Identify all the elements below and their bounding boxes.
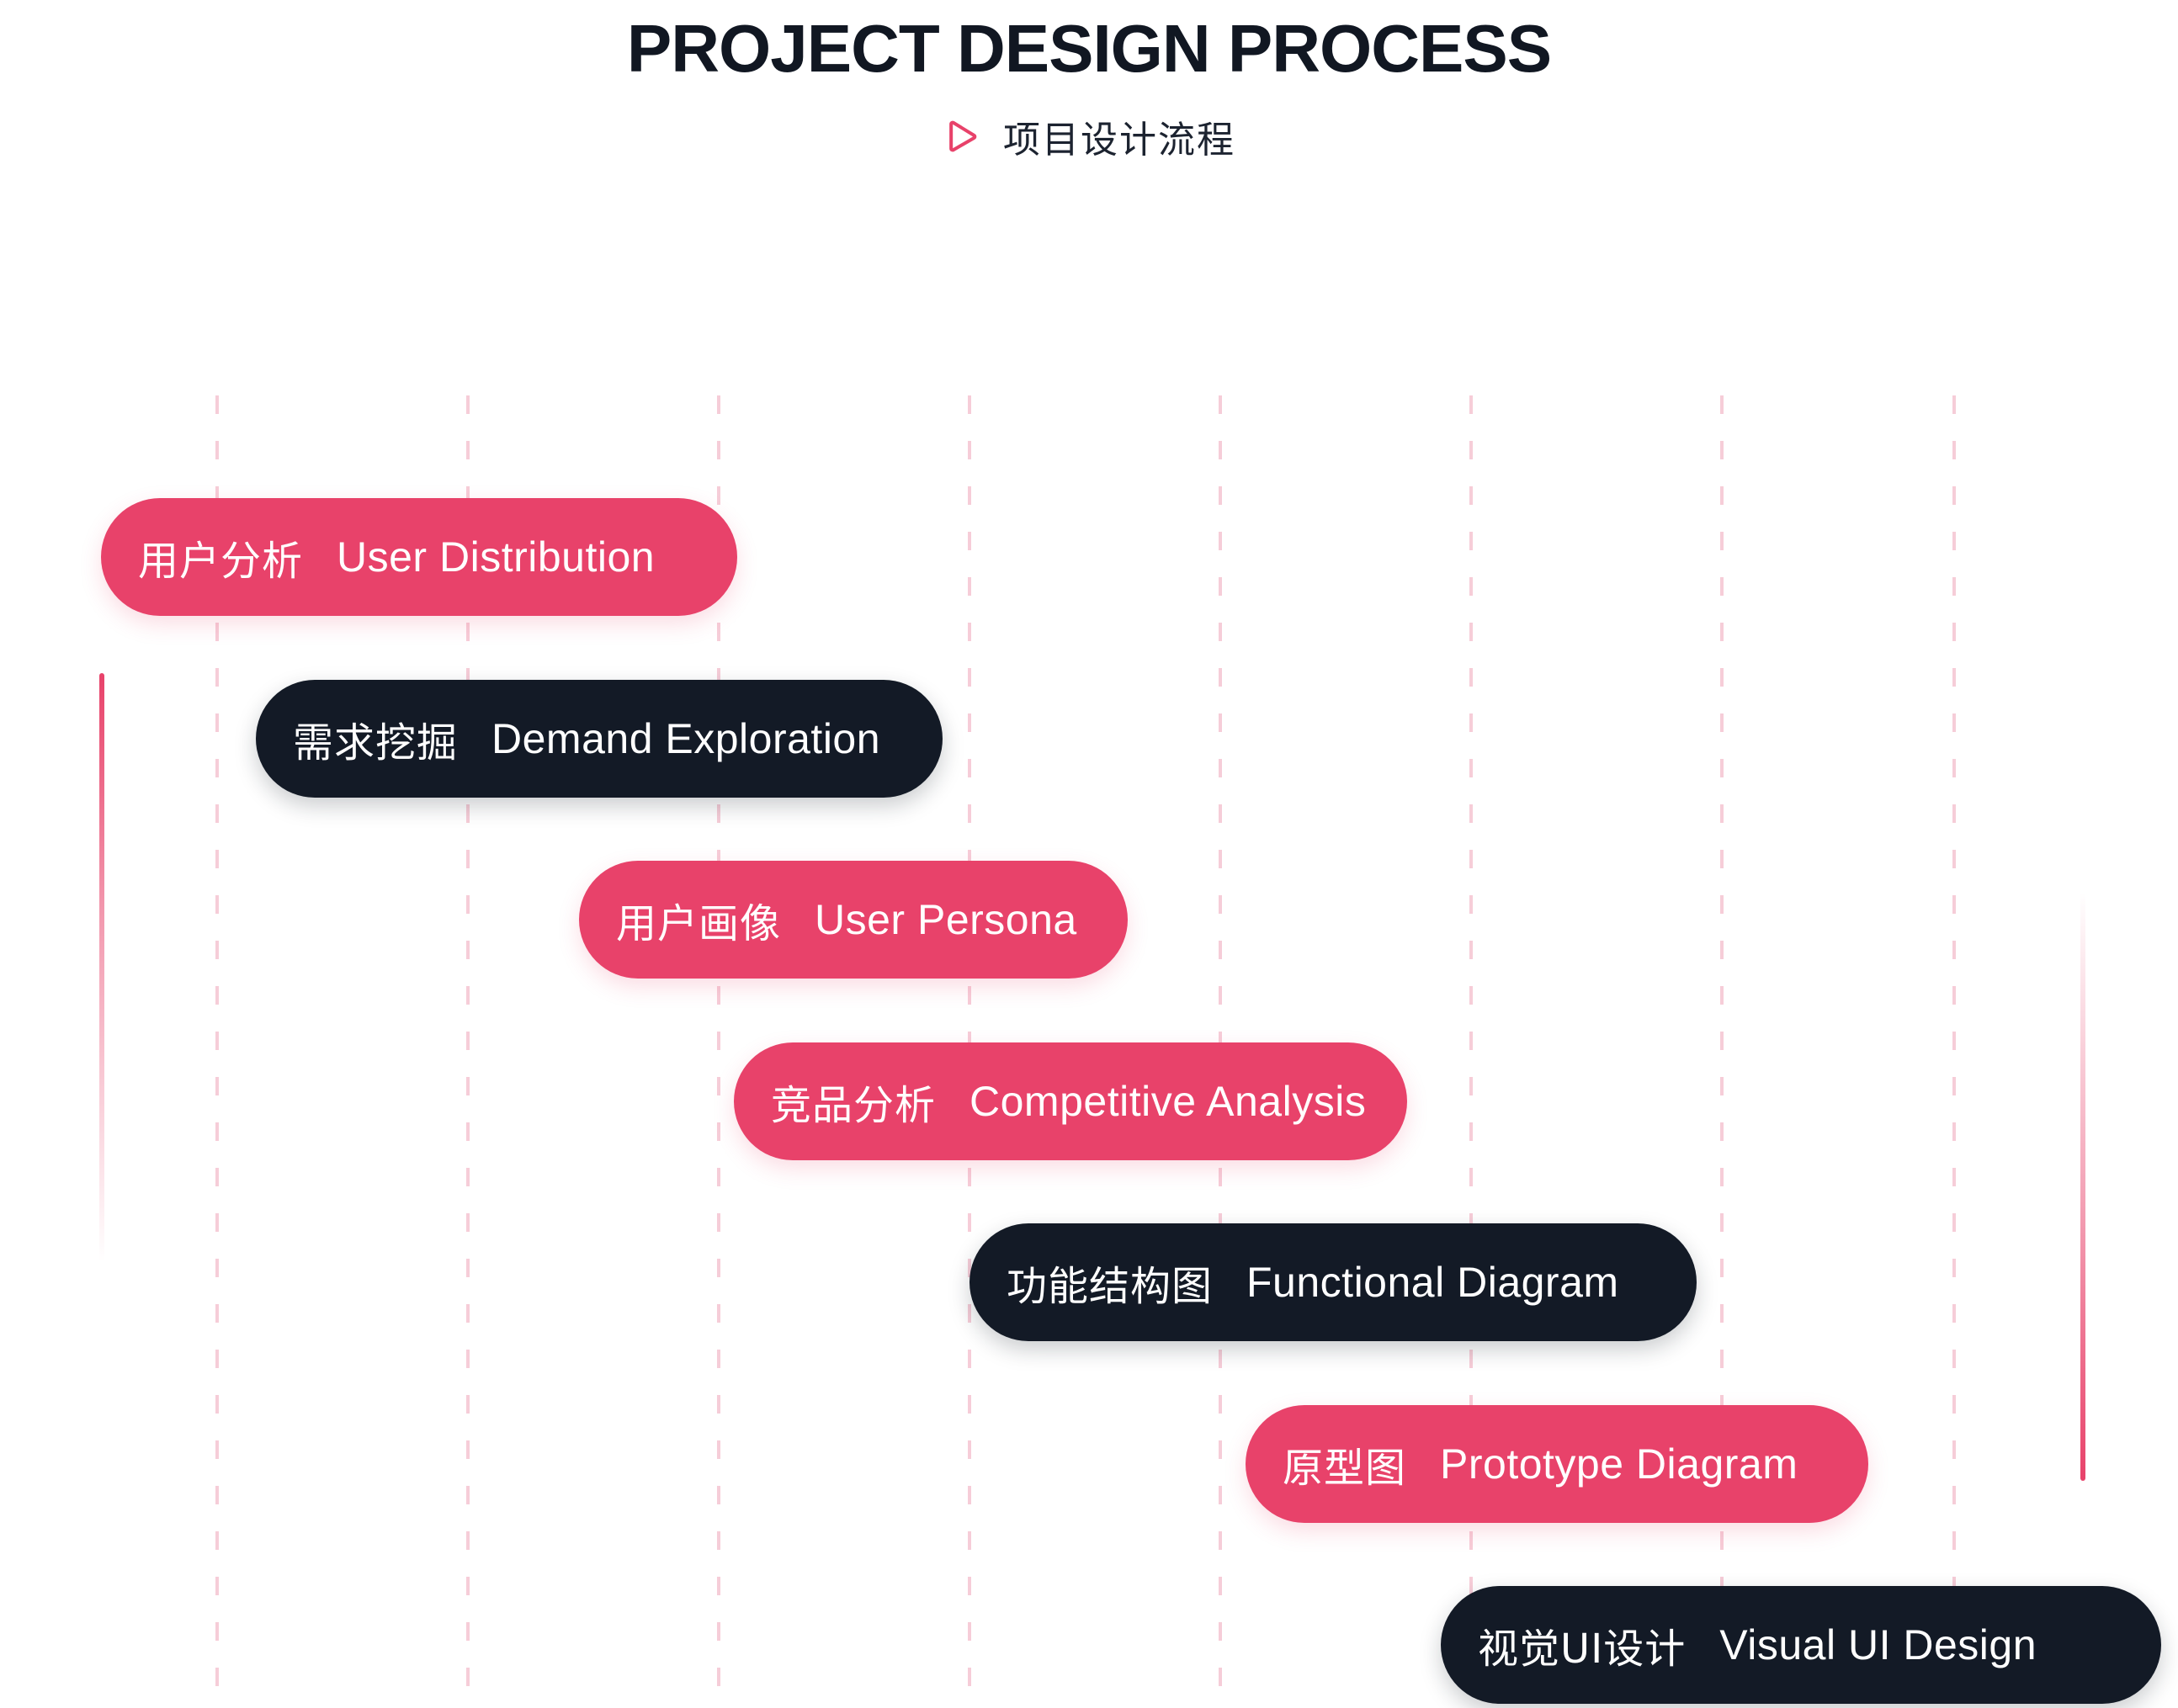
left-gradient-rail	[99, 673, 104, 1262]
process-step-prototype-diagram[interactable]: 原型图 Prototype Diagram	[1246, 1405, 1868, 1523]
process-step-functional-diagram[interactable]: 功能结构图 Functional Diagram	[969, 1223, 1697, 1341]
process-step-user-distribution[interactable]: 用户分析 User Distribution	[101, 498, 737, 616]
step-label-en: Prototype Diagram	[1440, 1440, 1798, 1488]
step-label-en: User Persona	[815, 895, 1077, 944]
process-timeline: 用户分析 User Distribution 需求挖掘 Demand Explo…	[0, 0, 2178, 1708]
step-label-en: Demand Exploration	[491, 714, 880, 763]
process-step-user-persona[interactable]: 用户画像 User Persona	[579, 861, 1128, 979]
step-label-cn: 用户画像	[616, 890, 781, 949]
step-label-cn: 用户分析	[138, 528, 303, 586]
step-label-cn: 功能结构图	[1007, 1253, 1213, 1312]
step-label-en: Functional Diagram	[1246, 1258, 1619, 1307]
process-step-visual-ui-design[interactable]: 视觉UI设计 Visual UI Design	[1441, 1586, 2161, 1704]
step-label-en: Visual UI Design	[1719, 1620, 2037, 1669]
step-label-en: User Distribution	[337, 533, 655, 581]
project-design-process-page: PROJECT DESIGN PROCESS 项目设计流程 用户分析 User …	[0, 0, 2178, 1708]
process-step-demand-exploration[interactable]: 需求挖掘 Demand Exploration	[256, 680, 943, 798]
step-label-cn: 竞品分析	[771, 1072, 936, 1131]
step-label-cn: 需求挖掘	[293, 709, 458, 768]
step-label-cn: 视觉UI设计	[1478, 1615, 1686, 1674]
grid-line	[1952, 395, 1956, 1708]
step-label-cn: 原型图	[1283, 1435, 1406, 1493]
right-gradient-rail	[2080, 892, 2085, 1481]
process-step-competitive-analysis[interactable]: 竞品分析 Competitive Analysis	[734, 1042, 1407, 1160]
step-label-en: Competitive Analysis	[969, 1077, 1366, 1126]
